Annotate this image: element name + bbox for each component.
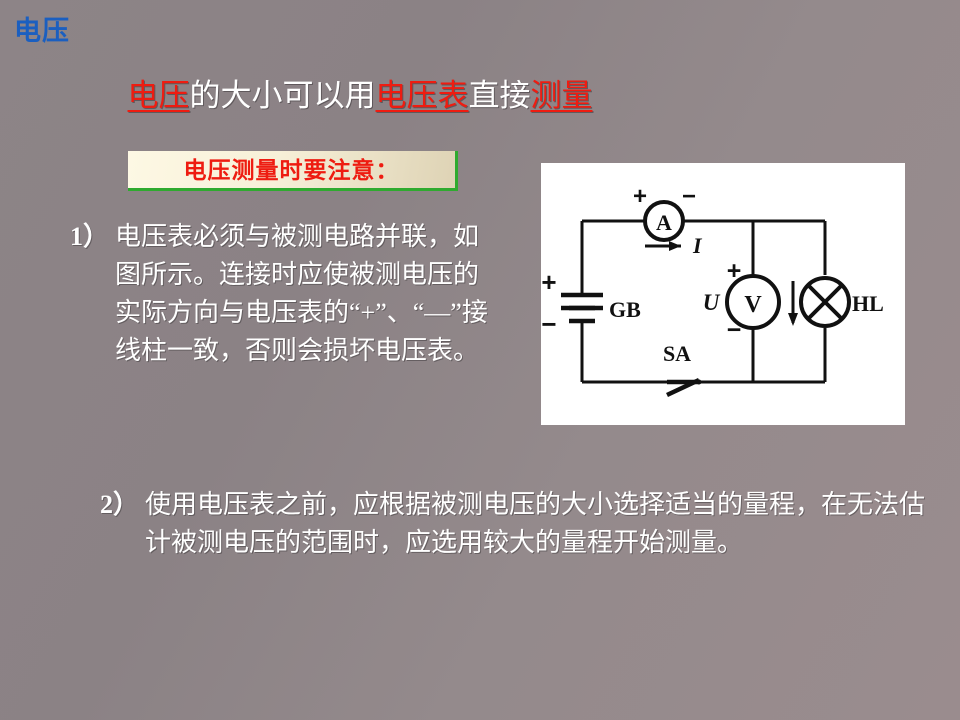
battery-plus-sign: +	[541, 267, 556, 297]
ammeter-plus-sign: +	[633, 183, 647, 210]
slide-canvas: 电压 电压的大小可以用电压表直接测量 电压测量时要注意： 1） 电压表必须与被测…	[0, 0, 960, 720]
voltmeter-minus-sign: −	[727, 316, 742, 344]
notice-label: 电压测量时要注意：	[184, 157, 400, 183]
main-title: 电压的大小可以用电压表直接测量	[0, 76, 720, 116]
title-segment-2: 的大小可以用	[190, 78, 376, 113]
list-item: 1） 电压表必须与被测电路并联，如图所示。连接时应使被测电压的实际方向与电压表的…	[70, 218, 500, 370]
list-item: 2） 使用电压表之前，应根据被测电压的大小选择适当的量程，在无法估计被测电压的范…	[100, 486, 930, 562]
title-segment-1: 电压	[128, 78, 190, 113]
title-segment-5: 测量	[531, 78, 593, 113]
current-label: I	[692, 233, 703, 258]
lamp-arrow-icon	[788, 313, 798, 326]
list-item-text: 电压表必须与被测电路并联，如图所示。连接时应使被测电压的实际方向与电压表的“+”…	[111, 218, 500, 370]
lamp-label: HL	[852, 291, 884, 316]
ammeter-minus-sign: −	[682, 183, 696, 210]
notice-callout-box: 电压测量时要注意：	[128, 151, 458, 191]
battery-label: GB	[609, 297, 641, 322]
switch-label: SA	[663, 341, 691, 366]
current-arrow-icon	[669, 241, 681, 251]
circuit-diagram-figure: + − GB A + − I V + − U HL	[541, 163, 905, 425]
list-item-marker: 1）	[70, 218, 109, 256]
title-segment-3: 电压表	[376, 78, 469, 113]
ammeter-label: A	[656, 210, 672, 235]
list-item-marker: 2）	[100, 486, 139, 524]
voltmeter-plus-sign: +	[727, 257, 742, 285]
page-title: 电压	[14, 16, 70, 46]
voltage-label: U	[703, 290, 721, 315]
battery-minus-sign: −	[541, 309, 556, 339]
voltmeter-label: V	[744, 292, 762, 318]
title-segment-4: 直接	[469, 78, 531, 113]
list-item-text: 使用电压表之前，应根据被测电压的大小选择适当的量程，在无法估计被测电压的范围时，…	[141, 486, 930, 562]
